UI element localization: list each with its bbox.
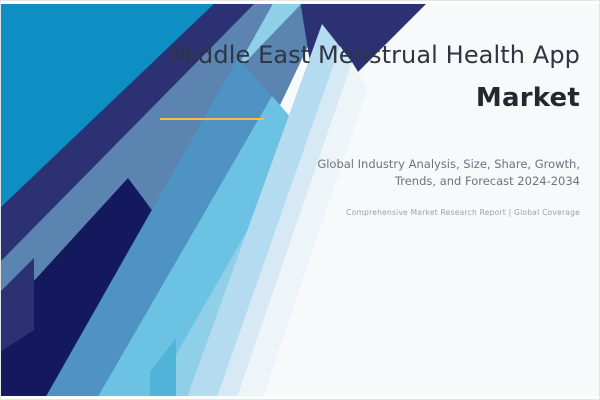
report-cover: Middle East Menstrual Health App Market … [0, 0, 600, 400]
emphasis-word-wrapper: Market [160, 84, 580, 120]
top-margin-strip [0, 0, 600, 4]
report-tagline: Comprehensive Market Research Report | G… [160, 208, 580, 219]
report-title: Middle East Menstrual Health App [160, 40, 580, 70]
accent-underline [160, 118, 264, 120]
subtitle-line-2: Trends, and Forecast 2024-2034 [395, 174, 580, 188]
emphasis-word: Market [476, 84, 580, 114]
bottom-margin-strip [0, 396, 600, 400]
cover-text-block: Middle East Menstrual Health App Market … [160, 40, 580, 219]
report-subtitle: Global Industry Analysis, Size, Share, G… [160, 156, 580, 191]
subtitle-line-1: Global Industry Analysis, Size, Share, G… [317, 157, 580, 171]
